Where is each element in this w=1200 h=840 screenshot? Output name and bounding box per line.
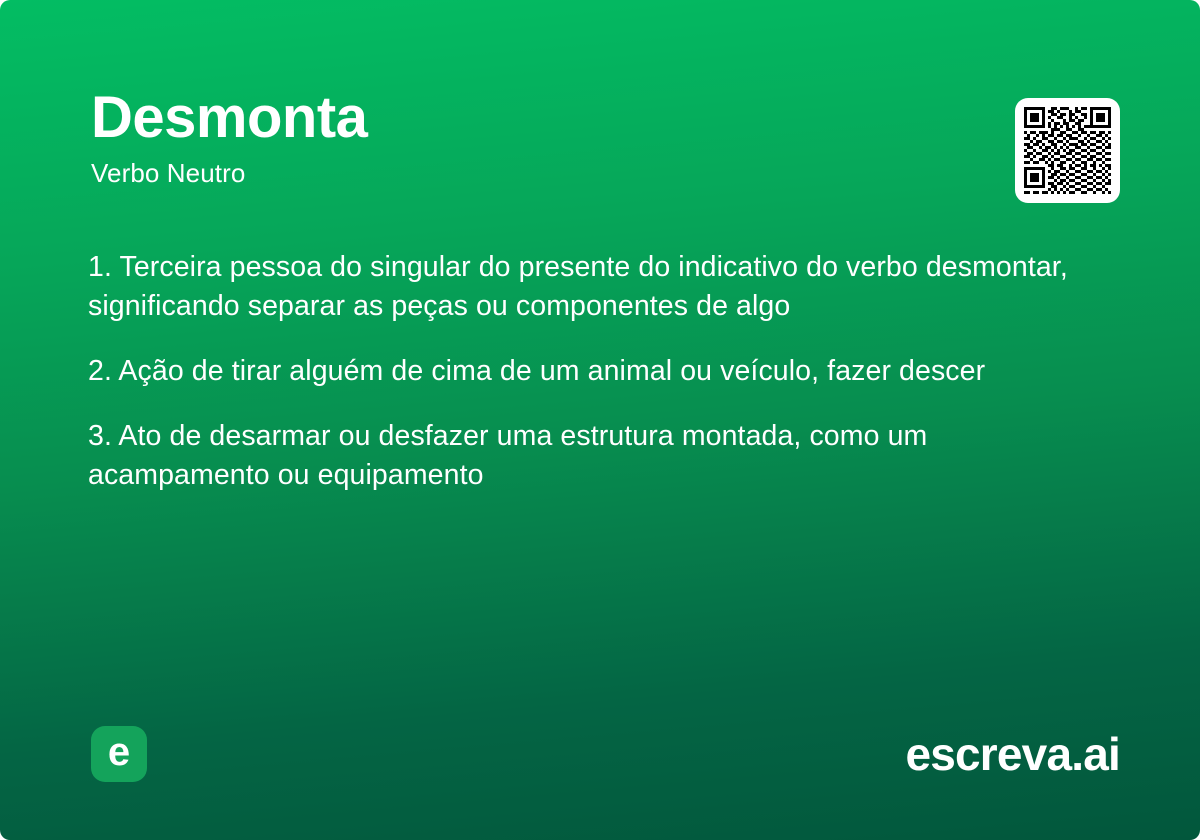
definition-item: 2. Ação de tirar alguém de cima de um an… <box>88 352 1100 391</box>
definition-list: 1. Terceira pessoa do singular do presen… <box>88 248 1100 495</box>
page-title: Desmonta <box>91 88 1120 147</box>
qr-code[interactable] <box>1015 98 1120 203</box>
definition-item: 3. Ato de desarmar ou desfazer uma estru… <box>88 417 1100 495</box>
brand-wordmark: escreva.ai <box>905 731 1120 777</box>
card-header: Desmonta Verbo Neutro <box>91 88 1120 188</box>
qr-code-image <box>1024 107 1111 194</box>
word-class-label: Verbo Neutro <box>91 159 1120 188</box>
definition-item: 1. Terceira pessoa do singular do presen… <box>88 248 1100 326</box>
brand-logo-icon: e <box>91 726 147 782</box>
card-footer: e escreva.ai <box>91 726 1120 782</box>
word-definition-card: Desmonta Verbo Neutro 1. Terceira pessoa… <box>0 0 1200 840</box>
brand-logo-letter: e <box>108 732 130 772</box>
